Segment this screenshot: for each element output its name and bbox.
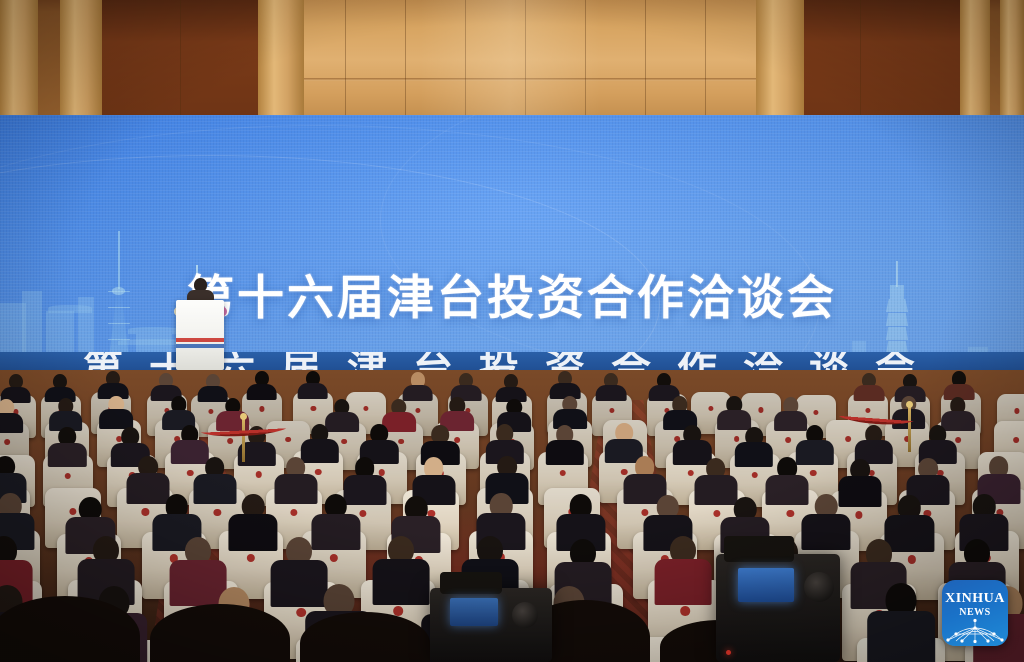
- wall-light-sheen: [420, 0, 600, 120]
- camera-lens: [512, 602, 538, 628]
- audience-member: [595, 373, 627, 409]
- audience-member-torso: [246, 384, 277, 400]
- audience-member-torso: [596, 385, 627, 401]
- watermark-network-icon: [942, 614, 1008, 644]
- chair-red-dot: [846, 436, 852, 442]
- auditorium-wood-wall: [0, 0, 1024, 120]
- chair-red-dot: [311, 406, 316, 411]
- audience-member-torso: [654, 559, 711, 605]
- chair-red-dot: [285, 437, 291, 443]
- wall-seam-7: [705, 0, 706, 120]
- audience-member-torso: [48, 443, 86, 467]
- camera-viewfinder-hood: [440, 572, 502, 594]
- wall-pilaster-5: [960, 0, 990, 120]
- audience-member-torso: [297, 383, 328, 399]
- watermark-line-1: XINHUA: [942, 591, 1008, 607]
- camera-lcd-screen: [738, 568, 794, 602]
- wall-pilaster-6: [1000, 0, 1024, 120]
- audience-member: [853, 373, 885, 409]
- rope-stanchion-right: [908, 406, 911, 452]
- chair-red-dot: [758, 407, 763, 412]
- wall-dark-panel-right: [800, 0, 965, 120]
- video-camera-left: [430, 588, 552, 662]
- chair-red-dot: [708, 406, 713, 411]
- led-backdrop-screen: 第十六届津台投资合作洽谈会 2025年10月 · 天津: [0, 115, 1024, 377]
- chair-red-dot: [609, 408, 614, 413]
- audience-member: [866, 583, 936, 662]
- rope-stanchion-left: [242, 418, 245, 462]
- wall-seam-2: [405, 0, 406, 120]
- chair-red-dot: [1014, 408, 1019, 413]
- camera-lens: [804, 572, 834, 602]
- audience-member: [47, 427, 87, 477]
- podium-ribbon-blue: [176, 344, 224, 348]
- chair-red-dot: [865, 408, 870, 413]
- wall-seam-6: [645, 0, 646, 120]
- wall-pilaster-4: [756, 0, 804, 120]
- event-main-title: 第十六届津台投资合作洽谈会: [0, 275, 1024, 322]
- chair-red-dot: [813, 410, 818, 415]
- video-camera-right: [716, 554, 840, 662]
- audience-member: [246, 371, 278, 407]
- audience-member-torso: [546, 440, 584, 464]
- screenshot-root: 第十六届津台投资合作洽谈会 2025年10月 · 天津 第十六届津台投资合作洽谈…: [0, 0, 1024, 662]
- chair-red-dot: [363, 406, 368, 411]
- wall-seam-8: [180, 0, 181, 120]
- wall-seam-1: [345, 0, 346, 120]
- podium: [176, 300, 224, 370]
- wall-seam-9: [860, 0, 861, 120]
- audience-member: [653, 536, 712, 622]
- audience-member-torso: [867, 611, 935, 662]
- podium-ribbon-red: [176, 338, 224, 342]
- audience-member-torso: [0, 413, 23, 433]
- wall-pilaster-1: [0, 0, 38, 120]
- audience-member: [545, 425, 585, 475]
- wall-pilaster-2: [60, 0, 102, 120]
- chair-red-dot: [209, 409, 214, 414]
- audience-member-torso: [854, 385, 885, 401]
- led-vignette: [0, 115, 1024, 377]
- wall-pilaster-3: [258, 0, 304, 120]
- camera-viewfinder-hood: [724, 536, 794, 562]
- chair-red-dot: [260, 406, 265, 411]
- xinhua-news-watermark: XINHUA NEWS: [942, 580, 1008, 646]
- chair-red-dot: [1013, 437, 1019, 443]
- audience-member: [0, 399, 24, 442]
- camera-lcd-screen: [450, 598, 498, 626]
- camera-record-led: [726, 650, 731, 655]
